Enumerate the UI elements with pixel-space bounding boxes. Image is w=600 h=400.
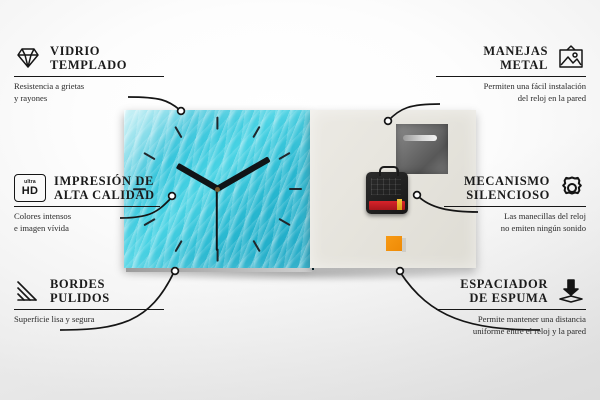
infographic-canvas: VIDRIO TEMPLADO Resistencia a grietas y … (0, 0, 600, 400)
battery (369, 201, 405, 210)
feature-subtitle: Colores intensos e imagen vívida (14, 211, 160, 234)
polished-edges-icon (14, 279, 42, 303)
feature-title: VIDRIO TEMPLADO (50, 44, 127, 73)
feature-subtitle: Superficie lisa y segura (14, 314, 164, 326)
clock-tick (278, 218, 290, 226)
mechanism-grid (371, 178, 401, 195)
feature-rule (14, 76, 164, 78)
foam-spacer (386, 236, 402, 251)
hd-label: HD (22, 186, 39, 197)
feature-rule (436, 309, 586, 311)
metal-hanger-plate (396, 124, 448, 174)
clock-center-pin (215, 187, 220, 192)
feature-subtitle: Permiten una fácil instalación del reloj… (436, 81, 586, 104)
clock-tick (143, 152, 155, 160)
feature-title: MECANISMO SILENCIOSO (464, 174, 550, 203)
clock-minute-hand (216, 157, 271, 192)
feature-title: ESPACIADOR DE ESPUMA (460, 277, 548, 306)
glass-bottom-edge (126, 268, 312, 272)
quartz-mechanism (366, 172, 408, 214)
clock-tick (174, 126, 182, 138)
ultra-hd-icon: ultra HD (14, 174, 46, 202)
feature-rule (14, 206, 160, 208)
feature-hd-print: ultra HD IMPRESIÓN DE ALTA CALIDAD Color… (14, 174, 160, 235)
gear-icon (558, 175, 586, 201)
feature-rule (436, 76, 586, 78)
clock-tick (174, 240, 182, 252)
hanger-slot (403, 135, 437, 141)
feature-polished-edges: BORDES PULIDOS Superficie lisa y segura (14, 277, 164, 326)
feature-title: IMPRESIÓN DE ALTA CALIDAD (54, 174, 155, 203)
feature-foam-spacer: ESPACIADOR DE ESPUMA Permite mantener un… (436, 277, 586, 338)
clock-second-hand (216, 189, 218, 251)
feature-title: MANEJAS METAL (483, 44, 548, 73)
feature-metal-handles: MANEJAS METAL Permiten una fácil instala… (436, 44, 586, 105)
picture-frame-icon (556, 45, 586, 71)
feature-subtitle: Resistencia a grietas y rayones (14, 81, 164, 104)
diamond-icon (14, 46, 42, 70)
clock-tick (252, 240, 260, 252)
clock-hour-hand (176, 164, 219, 192)
feature-silent-mechanism: MECANISMO SILENCIOSO Las manecillas del … (444, 174, 586, 235)
feature-rule (14, 309, 164, 311)
feature-title: BORDES PULIDOS (50, 277, 110, 306)
clock-tick (252, 126, 260, 138)
feature-subtitle: Permite mantener una distancia uniforme … (436, 314, 586, 337)
clock-tick (278, 152, 290, 160)
feature-rule (444, 206, 586, 208)
feature-subtitle: Las manecillas del reloj no emiten ningú… (444, 211, 586, 234)
mechanism-handle (379, 166, 399, 176)
clock-tick (289, 188, 302, 190)
clock-tick (216, 116, 218, 129)
down-arrow-pad-icon (556, 278, 586, 304)
feature-tempered-glass: VIDRIO TEMPLADO Resistencia a grietas y … (14, 44, 164, 105)
